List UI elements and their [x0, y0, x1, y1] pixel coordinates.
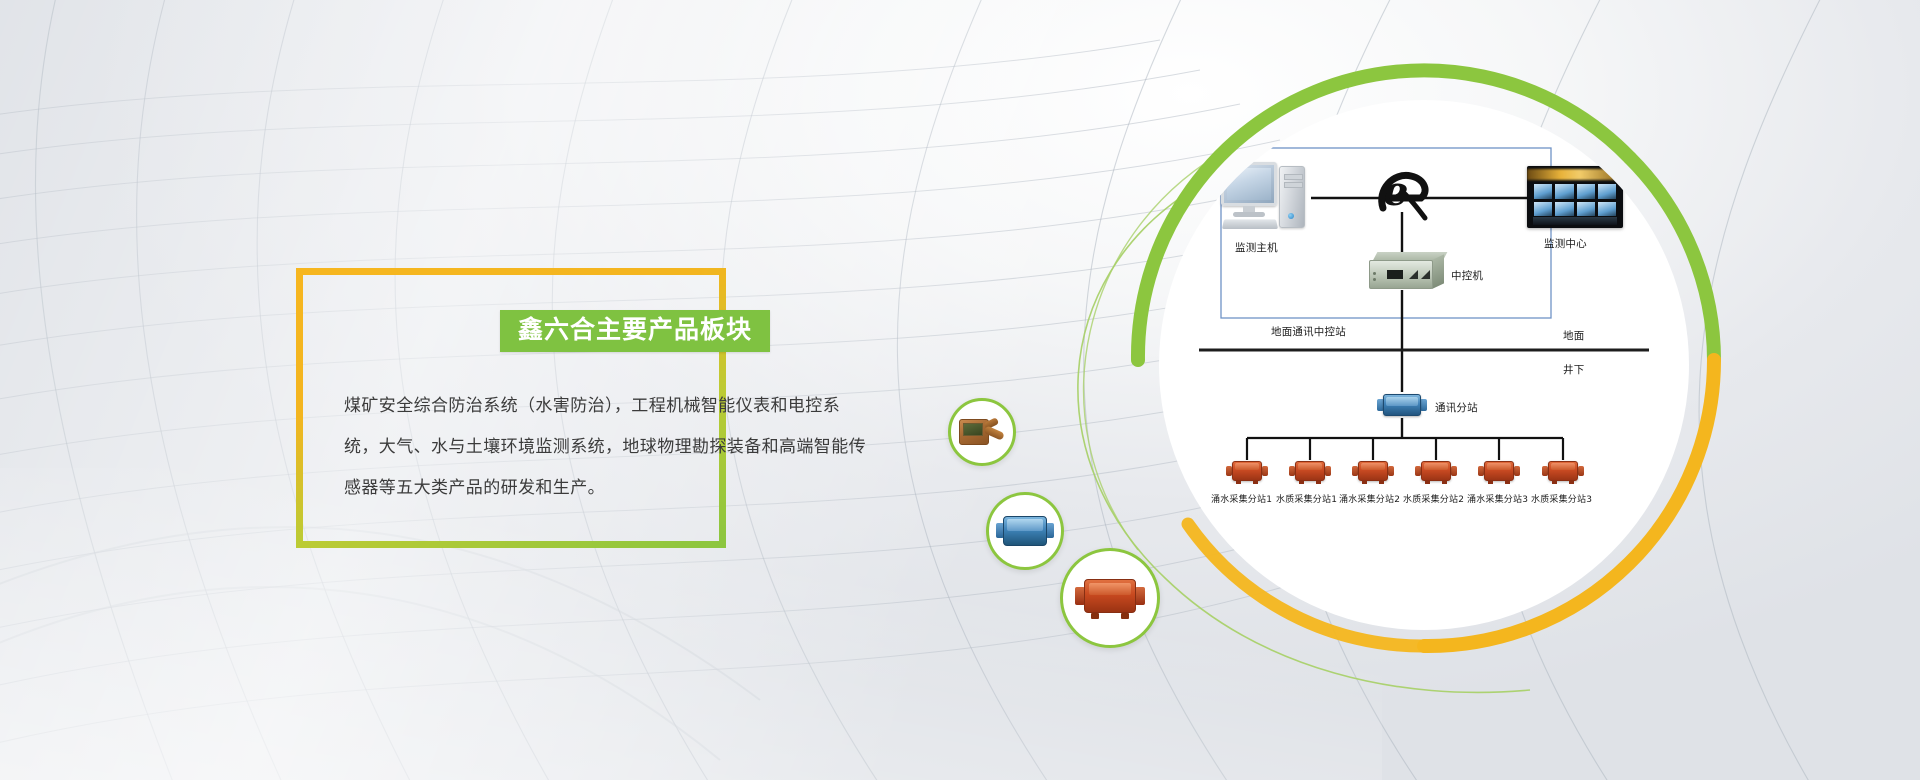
station-label-4: 水质采集分站2: [1403, 492, 1464, 505]
diagram-rings: 监测主机 e 监测中心: [930, 30, 1920, 750]
station-device-1: [1226, 458, 1268, 484]
brown-sensor-icon: [959, 417, 1005, 447]
label-comm-substation: 通讯分站: [1435, 400, 1478, 415]
monitoring-center-icon: [1527, 166, 1623, 228]
comm-substation-icon: [1377, 392, 1427, 418]
station-label-6: 水质采集分站3: [1531, 492, 1592, 505]
station-device-3: [1352, 458, 1394, 484]
label-ground-station: 地面通讯中控站: [1271, 324, 1346, 339]
station-label-1: 涌水采集分站1: [1211, 492, 1272, 505]
label-monitoring-center: 监测中心: [1544, 236, 1587, 251]
blue-junction-icon: [996, 514, 1054, 548]
label-monitoring-host: 监测主机: [1235, 240, 1278, 255]
product-bubble-blue[interactable]: [986, 492, 1064, 570]
label-central-controller: 中控机: [1451, 268, 1483, 283]
network-swoosh-icon: [1375, 168, 1433, 224]
station-label-2: 水质采集分站1: [1276, 492, 1337, 505]
red-substation-icon: [1075, 575, 1145, 621]
station-label-5: 涌水采集分站3: [1467, 492, 1528, 505]
label-ground: 地面: [1563, 328, 1584, 343]
station-device-2: [1289, 458, 1331, 484]
station-device-4: [1415, 458, 1457, 484]
panel-paragraph: 煤矿安全综合防治系统（水害防治），工程机械智能仪表和电控系统，大气、水与土壤环境…: [344, 386, 874, 509]
product-bubble-red[interactable]: [1060, 548, 1160, 648]
label-underground: 井下: [1563, 362, 1584, 377]
monitoring-host-icon: [1221, 162, 1309, 232]
product-bubble-brown[interactable]: [948, 398, 1016, 466]
central-controller-icon: [1369, 252, 1445, 290]
station-device-5: [1478, 458, 1520, 484]
intro-panel: 鑫六合主要产品板块 煤矿安全综合防治系统（水害防治），工程机械智能仪表和电控系统…: [296, 268, 726, 548]
station-label-3: 涌水采集分站2: [1339, 492, 1400, 505]
system-diagram: 监测主机 e 监测中心: [1159, 100, 1689, 630]
diagram-disc: 监测主机 e 监测中心: [1159, 100, 1689, 630]
panel-title-banner: 鑫六合主要产品板块: [500, 310, 770, 352]
page-title: 鑫六合主要产品板块: [518, 315, 752, 344]
station-device-6: [1542, 458, 1584, 484]
